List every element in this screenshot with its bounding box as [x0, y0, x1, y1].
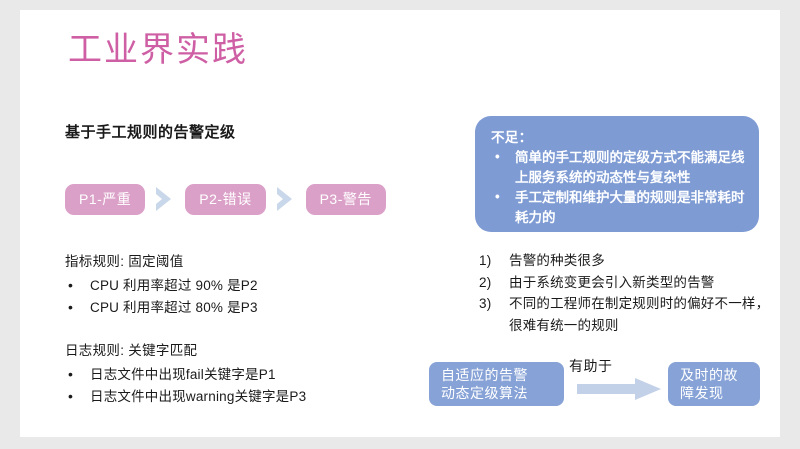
flow-left-line-2: 动态定级算法: [441, 384, 564, 402]
drawback-heading: 不足：: [491, 128, 749, 148]
pipeline-step-p2: P2-错误: [185, 184, 265, 215]
metric-rules-heading: 指标规则: 固定阈值: [65, 251, 258, 273]
list-item: 告警的种类很多: [479, 250, 780, 272]
pipeline-step-p3: P3-警告: [306, 184, 386, 215]
list-item: 不同的工程师在制定规则时的偏好不一样，很难有统一的规则: [479, 293, 780, 336]
drawback-callout-box: 不足： 简单的手工规则的定级方式不能满足线上服务系统的动态性与复杂性 手工定制和…: [475, 116, 759, 232]
pipeline-step-p1: P1-严重: [65, 184, 145, 215]
list-item: 日志文件中出现warning关键字是P3: [65, 386, 306, 408]
log-rules-list: 日志文件中出现fail关键字是P1 日志文件中出现warning关键字是P3: [65, 364, 306, 408]
reasons-numbered-block: 告警的种类很多 由于系统变更会引入新类型的告警 不同的工程师在制定规则时的偏好不…: [479, 250, 780, 336]
page-title: 工业界实践: [68, 32, 248, 69]
left-section-heading: 基于手工规则的告警定级: [65, 121, 236, 142]
log-rules-block: 日志规则: 关键字匹配 日志文件中出现fail关键字是P1 日志文件中出现war…: [65, 340, 306, 408]
flow-left-line-1: 自适应的告警: [441, 366, 564, 384]
chevron-right-icon: [266, 182, 306, 216]
slide-canvas: 工业界实践 基于手工规则的告警定级 P1-严重 P2-错误 P3-警告 指标规则…: [20, 10, 780, 437]
drawback-list: 简单的手工规则的定级方式不能满足线上服务系统的动态性与复杂性 手工定制和维护大量…: [491, 148, 749, 228]
flow-arrow-label: 有助于: [569, 356, 613, 376]
metric-rules-block: 指标规则: 固定阈值 CPU 利用率超过 90% 是P2 CPU 利用率超过 8…: [65, 251, 258, 319]
flow-box-fault-detection: 及时的故 障发现: [668, 362, 760, 406]
flow-right-line-1: 及时的故: [680, 366, 760, 384]
pipeline-diagram: P1-严重 P2-错误 P3-警告: [65, 182, 386, 216]
list-item: 由于系统变更会引入新类型的告警: [479, 272, 780, 294]
chevron-right-icon: [145, 182, 185, 216]
arrow-right-icon: [577, 378, 661, 400]
list-item: 手工定制和维护大量的规则是非常耗时耗力的: [491, 188, 749, 228]
list-item: 日志文件中出现fail关键字是P1: [65, 364, 306, 386]
list-item: 简单的手工规则的定级方式不能满足线上服务系统的动态性与复杂性: [491, 148, 749, 188]
flow-right-line-2: 障发现: [680, 384, 760, 402]
flow-box-adaptive-algorithm: 自适应的告警 动态定级算法: [429, 362, 564, 406]
list-item: CPU 利用率超过 80% 是P3: [65, 297, 258, 319]
log-rules-heading: 日志规则: 关键字匹配: [65, 340, 306, 362]
reasons-numbered-list: 告警的种类很多 由于系统变更会引入新类型的告警 不同的工程师在制定规则时的偏好不…: [479, 250, 780, 336]
list-item: CPU 利用率超过 90% 是P2: [65, 275, 258, 297]
metric-rules-list: CPU 利用率超过 90% 是P2 CPU 利用率超过 80% 是P3: [65, 275, 258, 319]
